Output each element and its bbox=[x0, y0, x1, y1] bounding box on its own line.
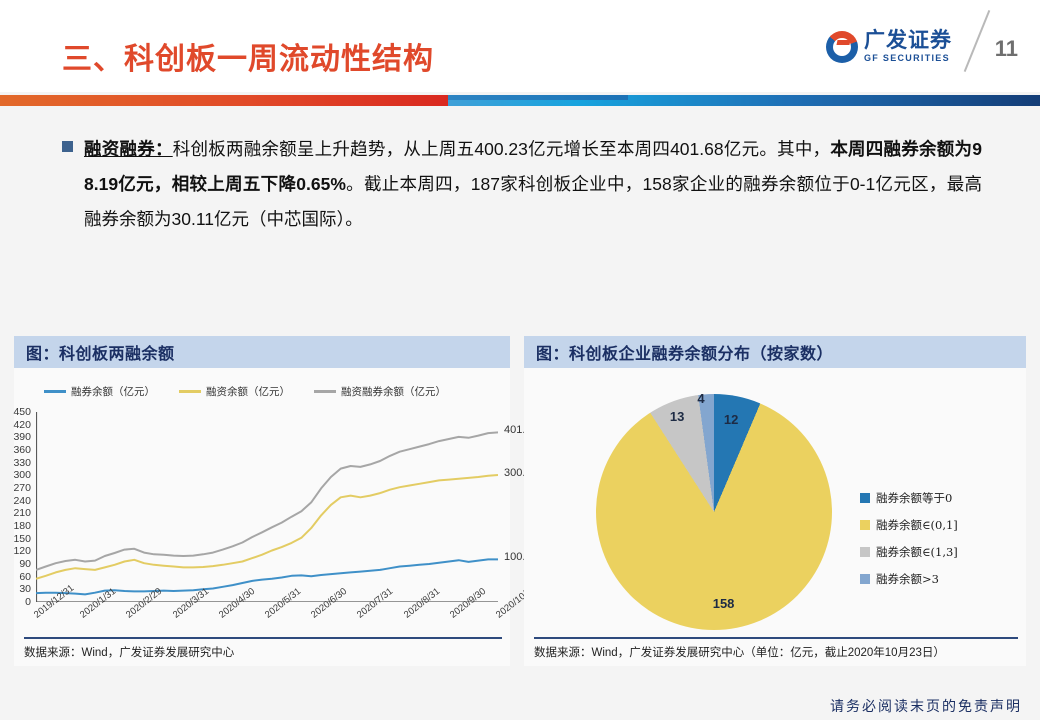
y-axis-tick-label: 270 bbox=[13, 482, 31, 494]
right-chart-body: 12158134 融券余额等于0融券余额∈(0,1]融券余额∈(1,3]融券余额… bbox=[524, 368, 1026, 666]
left-source-text: 数据来源：Wind，广发证券发展研究中心 bbox=[24, 644, 510, 660]
slash-divider-icon bbox=[964, 10, 991, 72]
left-chart-title: 图：科创板两融余额 bbox=[26, 340, 175, 364]
line-chart-plot: 0306090120150180210240270300330360390420… bbox=[36, 412, 498, 602]
pie-legend-item-1: 融券余额∈(0,1] bbox=[860, 517, 958, 533]
y-axis-tick-label: 60 bbox=[19, 571, 31, 583]
right-chart-source: 数据来源：Wind，广发证券发展研究中心（单位：亿元，截止2020年10月23日… bbox=[524, 637, 1026, 660]
y-axis-tick-label: 120 bbox=[13, 545, 31, 557]
source-rule bbox=[534, 637, 1018, 639]
pie-slice-value: 158 bbox=[713, 596, 735, 611]
line-series-2 bbox=[36, 432, 498, 570]
page-number: 11 bbox=[995, 36, 1018, 62]
right-chart-title: 图：科创板企业融券余额分布（按家数） bbox=[536, 340, 833, 364]
content-paragraph: 融资融券：科创板两融余额呈上升趋势，从上周五400.23亿元增长至本周四401.… bbox=[84, 132, 982, 237]
legend-label: 融资余额（亿元） bbox=[206, 384, 290, 399]
left-chart-panel: 图：科创板两融余额 融券余额（亿元）融资余额（亿元）融资融券余额（亿元） 030… bbox=[14, 336, 510, 666]
content-block: 融资融券：科创板两融余额呈上升趋势，从上周五400.23亿元增长至本周四401.… bbox=[62, 132, 982, 237]
pie-legend-label: 融券余额>3 bbox=[876, 571, 939, 587]
pie-chart-legend: 融券余额等于0融券余额∈(0,1]融券余额∈(1,3]融券余额>3 bbox=[860, 490, 958, 598]
right-source-text: 数据来源：Wind，广发证券发展研究中心（单位：亿元，截止2020年10月23日… bbox=[534, 644, 1026, 660]
pie-shape bbox=[596, 394, 832, 630]
slide-header: 三、科创板一周流动性结构 广发证券 GF SECURITIES 11 bbox=[0, 0, 1040, 92]
y-axis-tick-label: 240 bbox=[13, 495, 31, 507]
right-chart-header: 图：科创板企业融券余额分布（按家数） bbox=[524, 336, 1026, 368]
y-axis-tick-label: 420 bbox=[13, 419, 31, 431]
logo-english-name: GF SECURITIES bbox=[864, 54, 952, 63]
pie-legend-swatch-icon bbox=[860, 547, 870, 557]
left-chart-header: 图：科创板两融余额 bbox=[14, 336, 510, 368]
logo-chinese-name: 广发证券 bbox=[864, 30, 952, 51]
pie-slice-value: 13 bbox=[670, 409, 684, 424]
page-title: 三、科创板一周流动性结构 bbox=[62, 34, 434, 78]
pie-legend-swatch-icon bbox=[860, 520, 870, 530]
legend-item-2: 融资融券余额（亿元） bbox=[314, 384, 446, 399]
divider-red-segment bbox=[0, 95, 452, 106]
bullet-square-icon bbox=[62, 141, 73, 152]
paragraph-lead: 融资融券： bbox=[84, 139, 173, 159]
legend-label: 融券余额（亿元） bbox=[71, 384, 155, 399]
pie-legend-label: 融券余额∈(1,3] bbox=[876, 544, 958, 560]
y-axis-tick-label: 150 bbox=[13, 533, 31, 545]
header-divider-bar bbox=[0, 93, 1040, 106]
legend-item-0: 融券余额（亿元） bbox=[44, 384, 155, 399]
right-chart-panel: 图：科创板企业融券余额分布（按家数） 12158134 融券余额等于0融券余额∈… bbox=[524, 336, 1026, 666]
y-axis-tick-label: 300 bbox=[13, 469, 31, 481]
pie-legend-item-3: 融券余额>3 bbox=[860, 571, 958, 587]
y-axis-tick-label: 0 bbox=[25, 596, 31, 608]
y-axis-tick-label: 330 bbox=[13, 457, 31, 469]
slide: 三、科创板一周流动性结构 广发证券 GF SECURITIES 11 融资融券：… bbox=[0, 0, 1040, 720]
divider-blue-segment bbox=[448, 95, 1040, 106]
pie-slice-value: 4 bbox=[697, 391, 704, 406]
disclaimer-text: 请务必阅读末页的免责声明 bbox=[830, 696, 1022, 716]
line-chart-svg bbox=[36, 412, 498, 602]
legend-item-1: 融资余额（亿元） bbox=[179, 384, 290, 399]
legend-swatch-icon bbox=[44, 390, 66, 393]
y-axis-tick-label: 450 bbox=[13, 406, 31, 418]
pie-legend-item-2: 融券余额∈(1,3] bbox=[860, 544, 958, 560]
pie-chart-plot: 12158134 bbox=[596, 394, 832, 630]
left-chart-source: 数据来源：Wind，广发证券发展研究中心 bbox=[14, 637, 510, 660]
pie-legend-item-0: 融券余额等于0 bbox=[860, 490, 958, 506]
y-axis-tick-label: 390 bbox=[13, 431, 31, 443]
paragraph-text-1: 科创板两融余额呈上升趋势，从上周五400.23亿元增长至本周四401.68亿元。… bbox=[173, 139, 831, 159]
line-chart-legend: 融券余额（亿元）融资余额（亿元）融资融券余额（亿元） bbox=[44, 384, 494, 399]
left-chart-body: 融券余额（亿元）融资余额（亿元）融资融券余额（亿元） 0306090120150… bbox=[14, 368, 510, 666]
legend-label: 融资融券余额（亿元） bbox=[341, 384, 446, 399]
y-axis-tick-label: 90 bbox=[19, 558, 31, 570]
pie-legend-swatch-icon bbox=[860, 574, 870, 584]
pie-legend-label: 融券余额∈(0,1] bbox=[876, 517, 958, 533]
y-axis-tick-label: 210 bbox=[13, 507, 31, 519]
pie-legend-swatch-icon bbox=[860, 493, 870, 503]
y-axis-tick-label: 180 bbox=[13, 520, 31, 532]
source-rule bbox=[24, 637, 502, 639]
pie-legend-label: 融券余额等于0 bbox=[876, 490, 952, 506]
gf-logo-icon bbox=[826, 31, 858, 63]
pie-slice-value: 12 bbox=[724, 412, 738, 427]
company-logo: 广发证券 GF SECURITIES bbox=[826, 30, 952, 63]
y-axis-tick-label: 360 bbox=[13, 444, 31, 456]
legend-swatch-icon bbox=[179, 390, 201, 393]
legend-swatch-icon bbox=[314, 390, 336, 393]
y-axis-tick-label: 30 bbox=[19, 583, 31, 595]
